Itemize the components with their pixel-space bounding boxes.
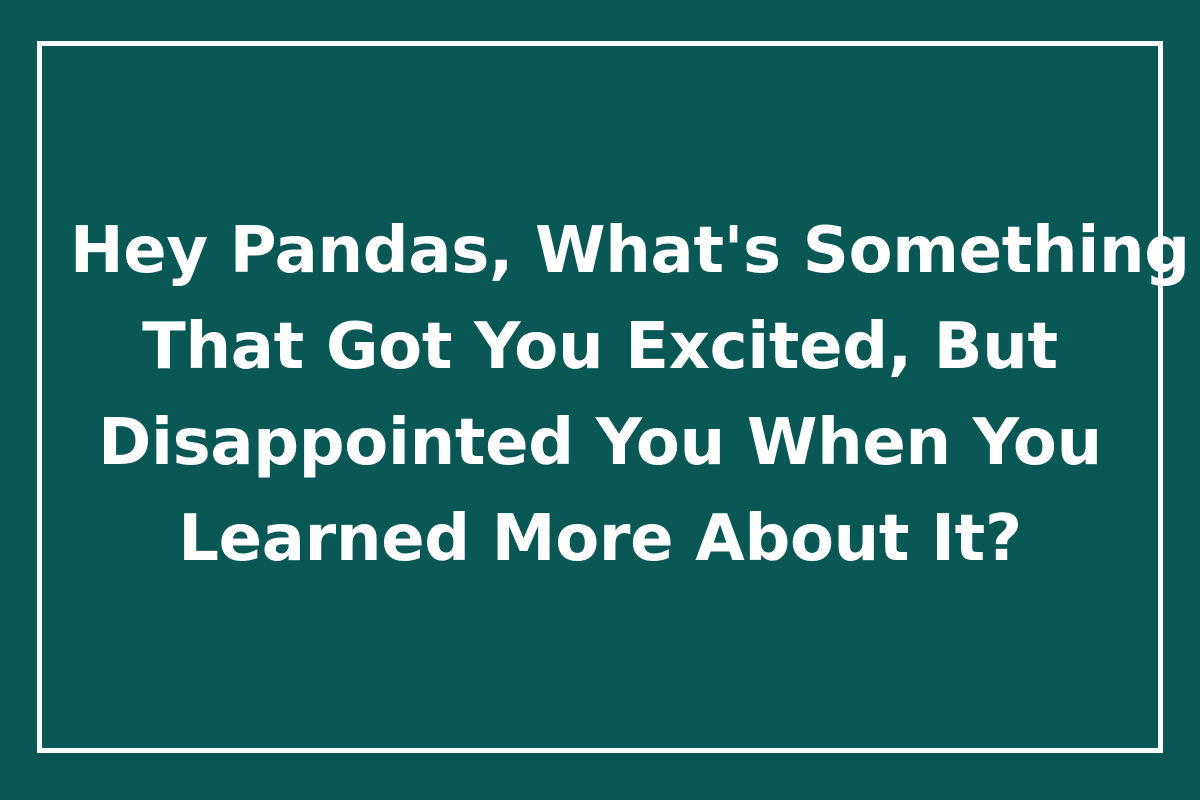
headline-line-1: Hey Pandas, What's Something bbox=[70, 203, 1130, 299]
question-card: Hey Pandas, What's Something That Got Yo… bbox=[0, 0, 1200, 800]
headline: Hey Pandas, What's Something That Got Yo… bbox=[70, 203, 1130, 587]
headline-line-3: Disappointed You When You bbox=[70, 395, 1130, 491]
headline-line-4: Learned More About It? bbox=[70, 491, 1130, 587]
headline-line-2: That Got You Excited, But bbox=[70, 299, 1130, 395]
